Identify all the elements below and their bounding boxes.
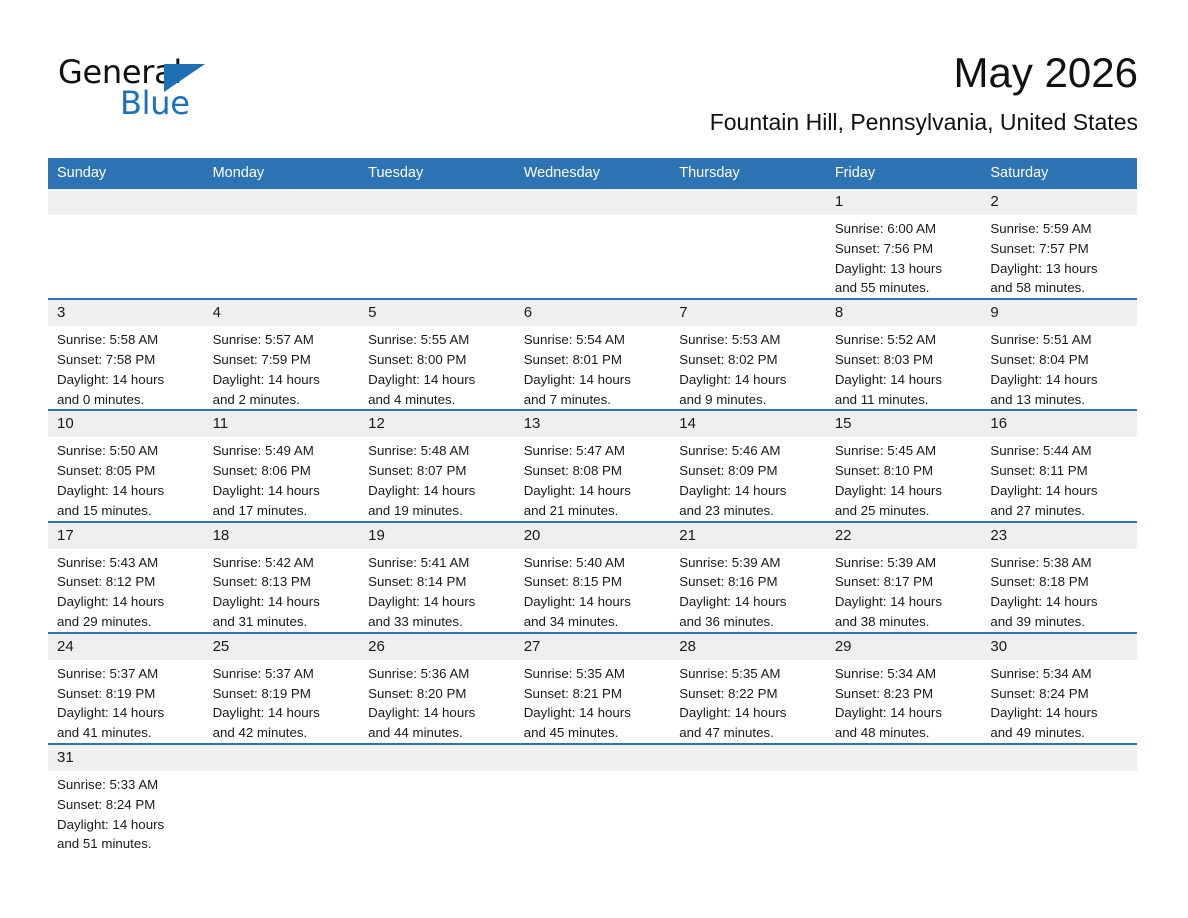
day-number [826, 745, 982, 771]
day-cell[interactable]: 30 Sunrise: 5:34 AM Sunset: 8:24 PM Dayl… [981, 633, 1137, 744]
daylight-text-line2: and 48 minutes. [835, 723, 976, 743]
day-number: 24 [48, 634, 204, 660]
day-cell [515, 744, 671, 857]
sunrise-text: Sunrise: 5:51 AM [990, 330, 1131, 350]
day-details: Sunrise: 5:35 AM Sunset: 8:21 PM Dayligh… [515, 660, 671, 743]
day-number: 16 [981, 411, 1137, 437]
day-cell[interactable]: 26 Sunrise: 5:36 AM Sunset: 8:20 PM Dayl… [359, 633, 515, 744]
daylight-text-line2: and 34 minutes. [524, 612, 665, 632]
daylight-text-line2: and 39 minutes. [990, 612, 1131, 632]
sunset-text: Sunset: 8:06 PM [213, 461, 354, 481]
day-details: Sunrise: 5:34 AM Sunset: 8:23 PM Dayligh… [826, 660, 982, 743]
day-number: 6 [515, 300, 671, 326]
day-number: 31 [48, 745, 204, 771]
day-cell[interactable]: 21 Sunrise: 5:39 AM Sunset: 8:16 PM Dayl… [670, 522, 826, 633]
day-details: Sunrise: 5:46 AM Sunset: 8:09 PM Dayligh… [670, 437, 826, 520]
day-cell[interactable]: 7 Sunrise: 5:53 AM Sunset: 8:02 PM Dayli… [670, 299, 826, 410]
day-number [981, 745, 1137, 771]
daylight-text-line1: Daylight: 14 hours [835, 370, 976, 390]
weekday-header-saturday: Saturday [981, 158, 1137, 189]
day-cell [204, 189, 360, 299]
day-cell[interactable]: 14 Sunrise: 5:46 AM Sunset: 8:09 PM Dayl… [670, 410, 826, 521]
daylight-text-line1: Daylight: 14 hours [679, 703, 820, 723]
daylight-text-line2: and 29 minutes. [57, 612, 198, 632]
day-cell[interactable]: 23 Sunrise: 5:38 AM Sunset: 8:18 PM Dayl… [981, 522, 1137, 633]
day-details: Sunrise: 5:58 AM Sunset: 7:58 PM Dayligh… [48, 326, 204, 409]
day-number [48, 189, 204, 215]
day-number [204, 745, 360, 771]
sunset-text: Sunset: 8:04 PM [990, 350, 1131, 370]
sunrise-text: Sunrise: 5:39 AM [679, 553, 820, 573]
sunrise-text: Sunrise: 5:35 AM [524, 664, 665, 684]
daylight-text-line2: and 2 minutes. [213, 390, 354, 410]
page-title: May 2026 [710, 48, 1138, 98]
day-number: 25 [204, 634, 360, 660]
daylight-text-line1: Daylight: 14 hours [57, 481, 198, 501]
daylight-text-line1: Daylight: 14 hours [990, 592, 1131, 612]
day-cell[interactable]: 22 Sunrise: 5:39 AM Sunset: 8:17 PM Dayl… [826, 522, 982, 633]
day-cell [981, 744, 1137, 857]
daylight-text-line2: and 47 minutes. [679, 723, 820, 743]
day-details: Sunrise: 5:37 AM Sunset: 8:19 PM Dayligh… [204, 660, 360, 743]
day-cell[interactable]: 6 Sunrise: 5:54 AM Sunset: 8:01 PM Dayli… [515, 299, 671, 410]
daylight-text-line1: Daylight: 14 hours [990, 703, 1131, 723]
sunset-text: Sunset: 8:03 PM [835, 350, 976, 370]
day-number [515, 189, 671, 215]
sunrise-text: Sunrise: 5:50 AM [57, 441, 198, 461]
sunset-text: Sunset: 7:56 PM [835, 239, 976, 259]
day-number [670, 745, 826, 771]
daylight-text-line2: and 11 minutes. [835, 390, 976, 410]
day-number: 21 [670, 523, 826, 549]
day-number: 14 [670, 411, 826, 437]
day-cell[interactable]: 31 Sunrise: 5:33 AM Sunset: 8:24 PM Dayl… [48, 744, 204, 857]
day-details: Sunrise: 5:48 AM Sunset: 8:07 PM Dayligh… [359, 437, 515, 520]
daylight-text-line2: and 33 minutes. [368, 612, 509, 632]
week-row: 10 Sunrise: 5:50 AM Sunset: 8:05 PM Dayl… [48, 410, 1137, 521]
week-row: 24 Sunrise: 5:37 AM Sunset: 8:19 PM Dayl… [48, 633, 1137, 744]
day-details: Sunrise: 5:34 AM Sunset: 8:24 PM Dayligh… [981, 660, 1137, 743]
sunset-text: Sunset: 8:10 PM [835, 461, 976, 481]
sunset-text: Sunset: 7:58 PM [57, 350, 198, 370]
day-cell[interactable]: 1 Sunrise: 6:00 AM Sunset: 7:56 PM Dayli… [826, 189, 982, 299]
sunset-text: Sunset: 8:13 PM [213, 572, 354, 592]
day-number: 22 [826, 523, 982, 549]
weekday-header-tuesday: Tuesday [359, 158, 515, 189]
sunrise-text: Sunrise: 5:39 AM [835, 553, 976, 573]
sunrise-text: Sunrise: 5:45 AM [835, 441, 976, 461]
sunrise-text: Sunrise: 5:53 AM [679, 330, 820, 350]
daylight-text-line1: Daylight: 14 hours [368, 592, 509, 612]
daylight-text-line1: Daylight: 14 hours [368, 481, 509, 501]
day-details: Sunrise: 5:54 AM Sunset: 8:01 PM Dayligh… [515, 326, 671, 409]
sunrise-text: Sunrise: 5:37 AM [213, 664, 354, 684]
sunset-text: Sunset: 8:19 PM [57, 684, 198, 704]
sunrise-sunset-calendar-table: Sunday Monday Tuesday Wednesday Thursday… [48, 158, 1137, 857]
sunrise-text: Sunrise: 5:33 AM [57, 775, 198, 795]
calendar-body: 1 Sunrise: 6:00 AM Sunset: 7:56 PM Dayli… [48, 189, 1137, 857]
day-number: 18 [204, 523, 360, 549]
day-cell [359, 744, 515, 857]
daylight-text-line2: and 21 minutes. [524, 501, 665, 521]
sunset-text: Sunset: 8:14 PM [368, 572, 509, 592]
sunrise-text: Sunrise: 5:46 AM [679, 441, 820, 461]
sunrise-text: Sunrise: 5:41 AM [368, 553, 509, 573]
daylight-text-line1: Daylight: 14 hours [213, 370, 354, 390]
day-cell[interactable]: 12 Sunrise: 5:48 AM Sunset: 8:07 PM Dayl… [359, 410, 515, 521]
sunrise-text: Sunrise: 5:47 AM [524, 441, 665, 461]
sunset-text: Sunset: 8:20 PM [368, 684, 509, 704]
sunrise-text: Sunrise: 5:35 AM [679, 664, 820, 684]
day-number [204, 189, 360, 215]
sunset-text: Sunset: 8:17 PM [835, 572, 976, 592]
day-cell[interactable]: 18 Sunrise: 5:42 AM Sunset: 8:13 PM Dayl… [204, 522, 360, 633]
sunrise-text: Sunrise: 5:49 AM [213, 441, 354, 461]
day-details: Sunrise: 5:55 AM Sunset: 8:00 PM Dayligh… [359, 326, 515, 409]
daylight-text-line2: and 7 minutes. [524, 390, 665, 410]
week-row: 3 Sunrise: 5:58 AM Sunset: 7:58 PM Dayli… [48, 299, 1137, 410]
sunset-text: Sunset: 8:24 PM [57, 795, 198, 815]
day-details: Sunrise: 5:39 AM Sunset: 8:17 PM Dayligh… [826, 549, 982, 632]
daylight-text-line1: Daylight: 14 hours [57, 592, 198, 612]
day-number: 4 [204, 300, 360, 326]
week-row: 17 Sunrise: 5:43 AM Sunset: 8:12 PM Dayl… [48, 522, 1137, 633]
sunrise-text: Sunrise: 5:37 AM [57, 664, 198, 684]
daylight-text-line1: Daylight: 14 hours [57, 815, 198, 835]
sunset-text: Sunset: 8:18 PM [990, 572, 1131, 592]
sunset-text: Sunset: 8:05 PM [57, 461, 198, 481]
daylight-text-line2: and 27 minutes. [990, 501, 1131, 521]
day-number: 10 [48, 411, 204, 437]
weekday-header-friday: Friday [826, 158, 982, 189]
day-number: 15 [826, 411, 982, 437]
day-number: 1 [826, 189, 982, 215]
day-details: Sunrise: 5:53 AM Sunset: 8:02 PM Dayligh… [670, 326, 826, 409]
day-number: 9 [981, 300, 1137, 326]
sunset-text: Sunset: 8:22 PM [679, 684, 820, 704]
daylight-text-line1: Daylight: 13 hours [835, 259, 976, 279]
day-number [359, 189, 515, 215]
daylight-text-line1: Daylight: 14 hours [368, 370, 509, 390]
day-number: 26 [359, 634, 515, 660]
daylight-text-line1: Daylight: 14 hours [57, 370, 198, 390]
week-row: 1 Sunrise: 6:00 AM Sunset: 7:56 PM Dayli… [48, 189, 1137, 299]
sunset-text: Sunset: 8:12 PM [57, 572, 198, 592]
day-details: Sunrise: 5:33 AM Sunset: 8:24 PM Dayligh… [48, 771, 204, 854]
calendar-header-row: Sunday Monday Tuesday Wednesday Thursday… [48, 158, 1137, 189]
day-details: Sunrise: 5:52 AM Sunset: 8:03 PM Dayligh… [826, 326, 982, 409]
day-cell[interactable]: 19 Sunrise: 5:41 AM Sunset: 8:14 PM Dayl… [359, 522, 515, 633]
daylight-text-line2: and 15 minutes. [57, 501, 198, 521]
day-cell[interactable]: 29 Sunrise: 5:34 AM Sunset: 8:23 PM Dayl… [826, 633, 982, 744]
sunrise-text: Sunrise: 5:43 AM [57, 553, 198, 573]
daylight-text-line1: Daylight: 14 hours [368, 703, 509, 723]
day-number: 17 [48, 523, 204, 549]
daylight-text-line1: Daylight: 14 hours [835, 592, 976, 612]
title-block: May 2026 Fountain Hill, Pennsylvania, Un… [710, 48, 1138, 136]
sunset-text: Sunset: 8:23 PM [835, 684, 976, 704]
day-cell[interactable]: 15 Sunrise: 5:45 AM Sunset: 8:10 PM Dayl… [826, 410, 982, 521]
week-row: 31 Sunrise: 5:33 AM Sunset: 8:24 PM Dayl… [48, 744, 1137, 857]
day-number: 3 [48, 300, 204, 326]
daylight-text-line2: and 19 minutes. [368, 501, 509, 521]
day-number: 12 [359, 411, 515, 437]
sunrise-text: Sunrise: 5:58 AM [57, 330, 198, 350]
sunrise-text: Sunrise: 5:57 AM [213, 330, 354, 350]
daylight-text-line2: and 9 minutes. [679, 390, 820, 410]
day-number: 8 [826, 300, 982, 326]
day-cell[interactable]: 25 Sunrise: 5:37 AM Sunset: 8:19 PM Dayl… [204, 633, 360, 744]
daylight-text-line1: Daylight: 14 hours [524, 703, 665, 723]
sunset-text: Sunset: 7:59 PM [213, 350, 354, 370]
sunrise-text: Sunrise: 5:54 AM [524, 330, 665, 350]
daylight-text-line1: Daylight: 14 hours [990, 481, 1131, 501]
daylight-text-line1: Daylight: 14 hours [213, 481, 354, 501]
sunrise-text: Sunrise: 5:55 AM [368, 330, 509, 350]
day-cell[interactable]: 10 Sunrise: 5:50 AM Sunset: 8:05 PM Dayl… [48, 410, 204, 521]
page-subtitle: Fountain Hill, Pennsylvania, United Stat… [710, 108, 1138, 136]
day-number: 30 [981, 634, 1137, 660]
sunset-text: Sunset: 8:24 PM [990, 684, 1131, 704]
daylight-text-line2: and 55 minutes. [835, 278, 976, 298]
day-number [670, 189, 826, 215]
sunrise-text: Sunrise: 5:52 AM [835, 330, 976, 350]
daylight-text-line2: and 41 minutes. [57, 723, 198, 743]
day-details: Sunrise: 5:45 AM Sunset: 8:10 PM Dayligh… [826, 437, 982, 520]
day-details: Sunrise: 6:00 AM Sunset: 7:56 PM Dayligh… [826, 215, 982, 298]
logo-text-blue: Blue [120, 87, 190, 119]
day-cell[interactable]: 27 Sunrise: 5:35 AM Sunset: 8:21 PM Dayl… [515, 633, 671, 744]
day-cell [48, 189, 204, 299]
daylight-text-line2: and 4 minutes. [368, 390, 509, 410]
daylight-text-line1: Daylight: 14 hours [679, 592, 820, 612]
daylight-text-line2: and 58 minutes. [990, 278, 1131, 298]
daylight-text-line1: Daylight: 14 hours [213, 703, 354, 723]
day-details: Sunrise: 5:37 AM Sunset: 8:19 PM Dayligh… [48, 660, 204, 743]
daylight-text-line1: Daylight: 14 hours [835, 703, 976, 723]
day-number: 27 [515, 634, 671, 660]
sunrise-text: Sunrise: 5:48 AM [368, 441, 509, 461]
sunset-text: Sunset: 8:00 PM [368, 350, 509, 370]
daylight-text-line2: and 49 minutes. [990, 723, 1131, 743]
day-cell [515, 189, 671, 299]
sunset-text: Sunset: 8:02 PM [679, 350, 820, 370]
day-cell[interactable]: 2 Sunrise: 5:59 AM Sunset: 7:57 PM Dayli… [981, 189, 1137, 299]
day-details: Sunrise: 5:35 AM Sunset: 8:22 PM Dayligh… [670, 660, 826, 743]
day-number: 13 [515, 411, 671, 437]
sunset-text: Sunset: 8:19 PM [213, 684, 354, 704]
day-number: 23 [981, 523, 1137, 549]
sunset-text: Sunset: 8:09 PM [679, 461, 820, 481]
daylight-text-line2: and 25 minutes. [835, 501, 976, 521]
sunrise-text: Sunrise: 5:38 AM [990, 553, 1131, 573]
day-details: Sunrise: 5:51 AM Sunset: 8:04 PM Dayligh… [981, 326, 1137, 409]
weekday-header-thursday: Thursday [670, 158, 826, 189]
sunset-text: Sunset: 8:15 PM [524, 572, 665, 592]
sunrise-text: Sunrise: 5:42 AM [213, 553, 354, 573]
day-number: 28 [670, 634, 826, 660]
day-cell[interactable]: 9 Sunrise: 5:51 AM Sunset: 8:04 PM Dayli… [981, 299, 1137, 410]
daylight-text-line2: and 23 minutes. [679, 501, 820, 521]
page-header: General Blue May 2026 Fountain Hill, Pen… [48, 48, 1138, 148]
day-details: Sunrise: 5:40 AM Sunset: 8:15 PM Dayligh… [515, 549, 671, 632]
daylight-text-line2: and 36 minutes. [679, 612, 820, 632]
day-cell [670, 744, 826, 857]
generalblue-logo[interactable]: General Blue [58, 56, 258, 126]
sunset-text: Sunset: 7:57 PM [990, 239, 1131, 259]
sunset-text: Sunset: 8:21 PM [524, 684, 665, 704]
daylight-text-line2: and 0 minutes. [57, 390, 198, 410]
sunset-text: Sunset: 8:16 PM [679, 572, 820, 592]
day-details: Sunrise: 5:43 AM Sunset: 8:12 PM Dayligh… [48, 549, 204, 632]
daylight-text-line1: Daylight: 13 hours [990, 259, 1131, 279]
daylight-text-line2: and 38 minutes. [835, 612, 976, 632]
daylight-text-line2: and 31 minutes. [213, 612, 354, 632]
day-details: Sunrise: 5:36 AM Sunset: 8:20 PM Dayligh… [359, 660, 515, 743]
day-cell[interactable]: 28 Sunrise: 5:35 AM Sunset: 8:22 PM Dayl… [670, 633, 826, 744]
daylight-text-line2: and 45 minutes. [524, 723, 665, 743]
day-cell[interactable]: 3 Sunrise: 5:58 AM Sunset: 7:58 PM Dayli… [48, 299, 204, 410]
daylight-text-line1: Daylight: 14 hours [213, 592, 354, 612]
day-number: 19 [359, 523, 515, 549]
daylight-text-line1: Daylight: 14 hours [524, 592, 665, 612]
day-cell[interactable]: 4 Sunrise: 5:57 AM Sunset: 7:59 PM Dayli… [204, 299, 360, 410]
day-number [359, 745, 515, 771]
day-details: Sunrise: 5:50 AM Sunset: 8:05 PM Dayligh… [48, 437, 204, 520]
day-details: Sunrise: 5:39 AM Sunset: 8:16 PM Dayligh… [670, 549, 826, 632]
day-details: Sunrise: 5:42 AM Sunset: 8:13 PM Dayligh… [204, 549, 360, 632]
day-number [515, 745, 671, 771]
sunrise-text: Sunrise: 5:36 AM [368, 664, 509, 684]
sunrise-text: Sunrise: 5:34 AM [990, 664, 1131, 684]
sunrise-text: Sunrise: 5:34 AM [835, 664, 976, 684]
day-details: Sunrise: 5:41 AM Sunset: 8:14 PM Dayligh… [359, 549, 515, 632]
daylight-text-line1: Daylight: 14 hours [679, 481, 820, 501]
daylight-text-line2: and 51 minutes. [57, 834, 198, 854]
day-cell [826, 744, 982, 857]
day-cell [670, 189, 826, 299]
sunset-text: Sunset: 8:08 PM [524, 461, 665, 481]
daylight-text-line2: and 42 minutes. [213, 723, 354, 743]
daylight-text-line2: and 44 minutes. [368, 723, 509, 743]
calendar-page: General Blue May 2026 Fountain Hill, Pen… [0, 0, 1188, 918]
sunset-text: Sunset: 8:11 PM [990, 461, 1131, 481]
weekday-header-wednesday: Wednesday [515, 158, 671, 189]
sunrise-text: Sunrise: 5:59 AM [990, 219, 1131, 239]
day-details: Sunrise: 5:47 AM Sunset: 8:08 PM Dayligh… [515, 437, 671, 520]
day-cell[interactable]: 8 Sunrise: 5:52 AM Sunset: 8:03 PM Dayli… [826, 299, 982, 410]
daylight-text-line1: Daylight: 14 hours [524, 370, 665, 390]
day-cell[interactable]: 5 Sunrise: 5:55 AM Sunset: 8:00 PM Dayli… [359, 299, 515, 410]
day-details: Sunrise: 5:38 AM Sunset: 8:18 PM Dayligh… [981, 549, 1137, 632]
day-cell[interactable]: 17 Sunrise: 5:43 AM Sunset: 8:12 PM Dayl… [48, 522, 204, 633]
weekday-header-sunday: Sunday [48, 158, 204, 189]
sunset-text: Sunset: 8:07 PM [368, 461, 509, 481]
day-number: 29 [826, 634, 982, 660]
day-details: Sunrise: 5:57 AM Sunset: 7:59 PM Dayligh… [204, 326, 360, 409]
day-details: Sunrise: 5:59 AM Sunset: 7:57 PM Dayligh… [981, 215, 1137, 298]
daylight-text-line2: and 13 minutes. [990, 390, 1131, 410]
day-cell[interactable]: 13 Sunrise: 5:47 AM Sunset: 8:08 PM Dayl… [515, 410, 671, 521]
day-number: 11 [204, 411, 360, 437]
day-details: Sunrise: 5:44 AM Sunset: 8:11 PM Dayligh… [981, 437, 1137, 520]
sunrise-text: Sunrise: 6:00 AM [835, 219, 976, 239]
day-details: Sunrise: 5:49 AM Sunset: 8:06 PM Dayligh… [204, 437, 360, 520]
day-number: 7 [670, 300, 826, 326]
day-cell [204, 744, 360, 857]
daylight-text-line1: Daylight: 14 hours [990, 370, 1131, 390]
daylight-text-line1: Daylight: 14 hours [57, 703, 198, 723]
weekday-header-monday: Monday [204, 158, 360, 189]
day-number: 20 [515, 523, 671, 549]
sunrise-text: Sunrise: 5:40 AM [524, 553, 665, 573]
daylight-text-line1: Daylight: 14 hours [679, 370, 820, 390]
sunset-text: Sunset: 8:01 PM [524, 350, 665, 370]
daylight-text-line2: and 17 minutes. [213, 501, 354, 521]
day-cell[interactable]: 16 Sunrise: 5:44 AM Sunset: 8:11 PM Dayl… [981, 410, 1137, 521]
daylight-text-line1: Daylight: 14 hours [524, 481, 665, 501]
day-cell[interactable]: 11 Sunrise: 5:49 AM Sunset: 8:06 PM Dayl… [204, 410, 360, 521]
day-cell [359, 189, 515, 299]
daylight-text-line1: Daylight: 14 hours [835, 481, 976, 501]
day-cell[interactable]: 20 Sunrise: 5:40 AM Sunset: 8:15 PM Dayl… [515, 522, 671, 633]
sunrise-text: Sunrise: 5:44 AM [990, 441, 1131, 461]
day-number: 5 [359, 300, 515, 326]
day-cell[interactable]: 24 Sunrise: 5:37 AM Sunset: 8:19 PM Dayl… [48, 633, 204, 744]
day-number: 2 [981, 189, 1137, 215]
